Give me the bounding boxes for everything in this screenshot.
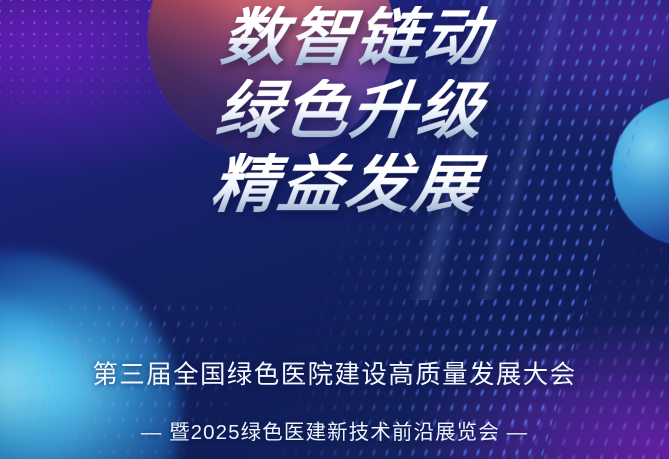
conference-title: 第三届全国绿色医院建设高质量发展大会 [0,354,669,391]
headline-line-3: 精益发展 [33,153,658,217]
headline-line-2: 绿色升级 [43,79,658,143]
headline-line-1: 数智链动 [53,6,657,70]
headline-block: 数智链动 绿色升级 精益发展 [0,6,669,226]
exhibition-subtitle: — 暨2025绿色医建新技术前沿展览会 — [0,415,669,445]
conference-banner: 数智链动 绿色升级 精益发展 第三届全国绿色医院建设高质量发展大会 — 暨202… [0,0,669,459]
subtitle-block: 第三届全国绿色医院建设高质量发展大会 — 暨2025绿色医建新技术前沿展览会 — [0,354,669,445]
